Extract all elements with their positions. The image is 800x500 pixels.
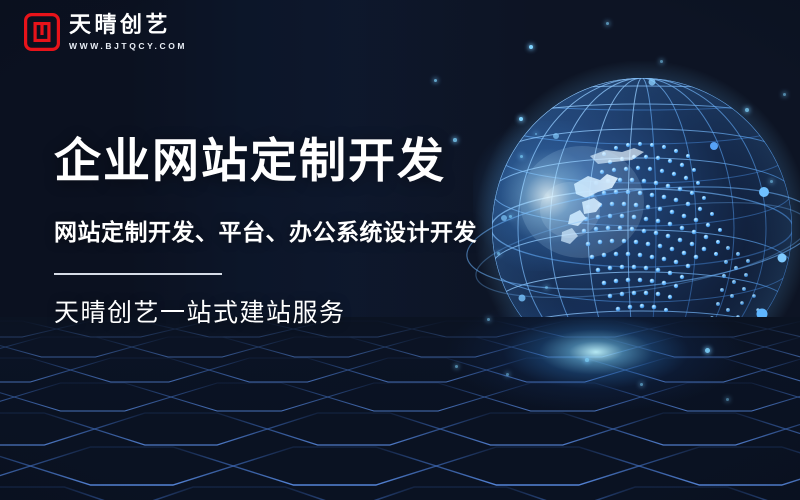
- promo-banner: 天晴创艺 WWW.BJTQCY.COM 企业网站定制开发 网站定制开发、平台、办…: [0, 0, 800, 500]
- hero-copy: 企业网站定制开发 网站定制开发、平台、办公系统设计开发 天晴创艺一站式建站服务: [54, 136, 524, 328]
- brand-name: 天晴创艺: [69, 13, 187, 39]
- hero-divider: [54, 273, 222, 275]
- brand-website: WWW.BJTQCY.COM: [69, 42, 187, 51]
- hero-subline: 网站定制开发、平台、办公系统设计开发: [54, 220, 524, 248]
- hero-headline: 企业网站定制开发: [54, 136, 524, 189]
- hero-tagline: 天晴创艺一站式建站服务: [54, 298, 524, 328]
- hexagon-grid-floor-icon: [0, 317, 800, 500]
- brand-logo[interactable]: 天晴创艺 WWW.BJTQCY.COM: [24, 13, 187, 51]
- tianqing-square-logo-icon: [24, 13, 60, 51]
- brand-logo-text: 天晴创艺 WWW.BJTQCY.COM: [69, 13, 187, 51]
